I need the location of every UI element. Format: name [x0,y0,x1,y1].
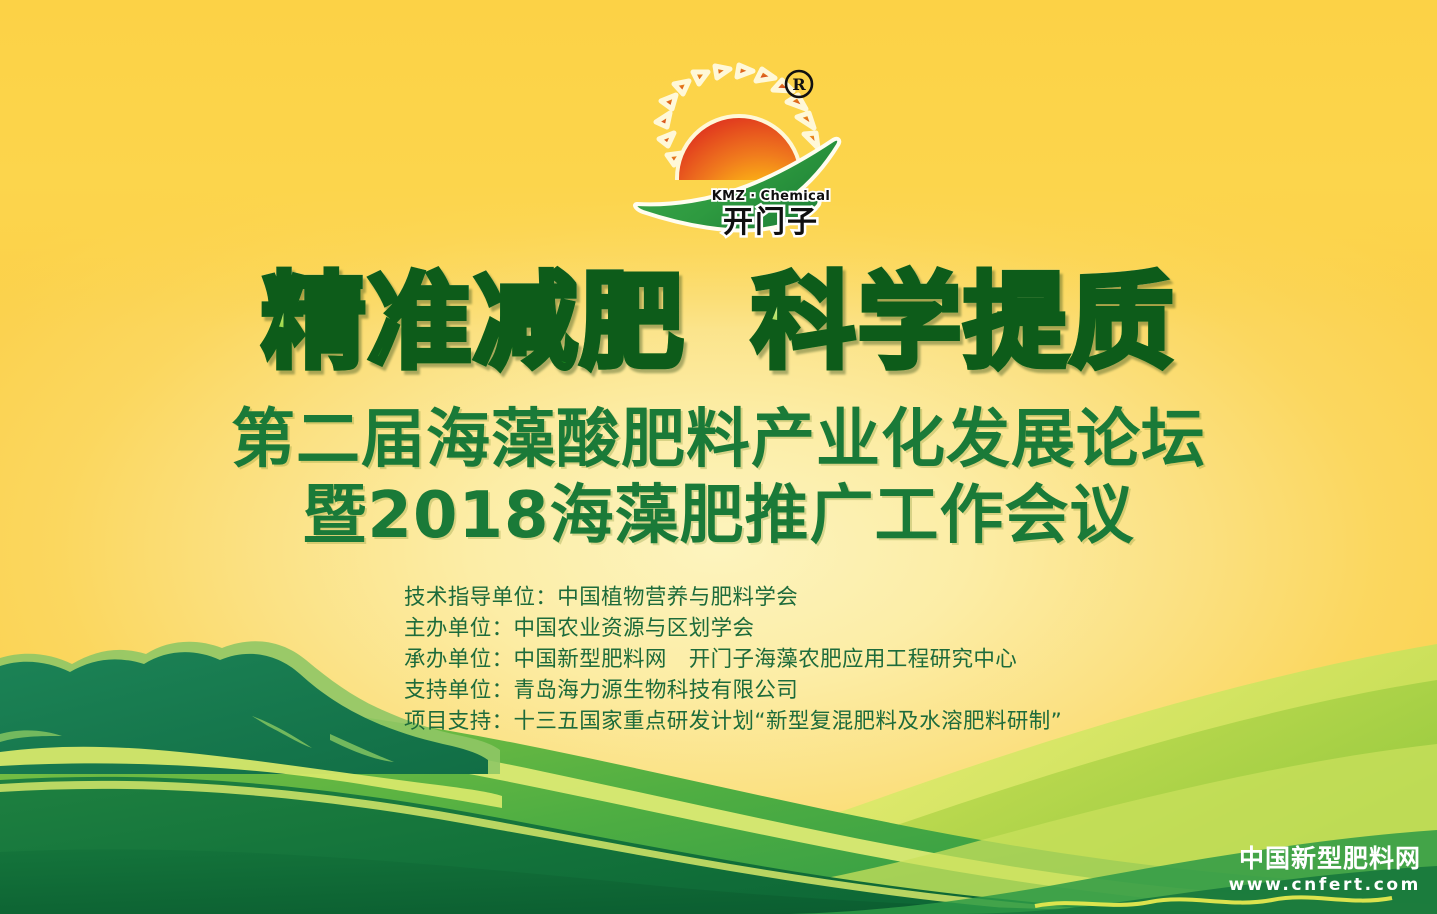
title-line-2: 暨2018海藻肥推广工作会议 [0,477,1437,555]
svg-text:R: R [792,75,806,94]
company-logo: R KMZ · Chemical 开门子 [619,60,849,250]
detail-line-technical-guidance: 技术指导单位：中国植物营养与肥料学会 [404,582,1164,613]
detail-line-supporter: 支持单位：青岛海力源生物科技有限公司 [404,675,1164,706]
logo-latin-text: KMZ · Chemical [712,189,831,204]
title-line-1: 第二届海藻酸肥料产业化发展论坛 [0,404,1437,477]
trademark-icon: R [786,71,812,97]
conference-banner: R KMZ · Chemical 开门子 精准减肥科学提质 第二届海藻酸肥料产业… [0,0,1437,914]
detail-line-co-organizer: 承办单位：中国新型肥料网 开门子海藻农肥应用工程研究中心 [404,644,1164,675]
headline: 精准减肥科学提质 [0,268,1437,377]
headline-part-1: 精准减肥 [261,268,685,377]
details-block: 技术指导单位：中国植物营养与肥料学会 主办单位：中国农业资源与区划学会 承办单位… [404,582,1164,737]
title-block: 第二届海藻酸肥料产业化发展论坛 暨2018海藻肥推广工作会议 [0,404,1437,555]
detail-line-project-support: 项目支持：十三五国家重点研发计划“新型复混肥料及水溶肥料研制” [404,706,1164,737]
watermark-site-name: 中国新型肥料网 [1229,845,1421,874]
logo-chinese-text: 开门子 [723,205,819,240]
watermark-site-url: www.cnfert.com [1229,874,1421,896]
detail-line-organizer: 主办单位：中国农业资源与区划学会 [404,613,1164,644]
headline-part-2: 科学提质 [752,268,1176,377]
site-watermark: 中国新型肥料网 www.cnfert.com [1229,845,1421,896]
